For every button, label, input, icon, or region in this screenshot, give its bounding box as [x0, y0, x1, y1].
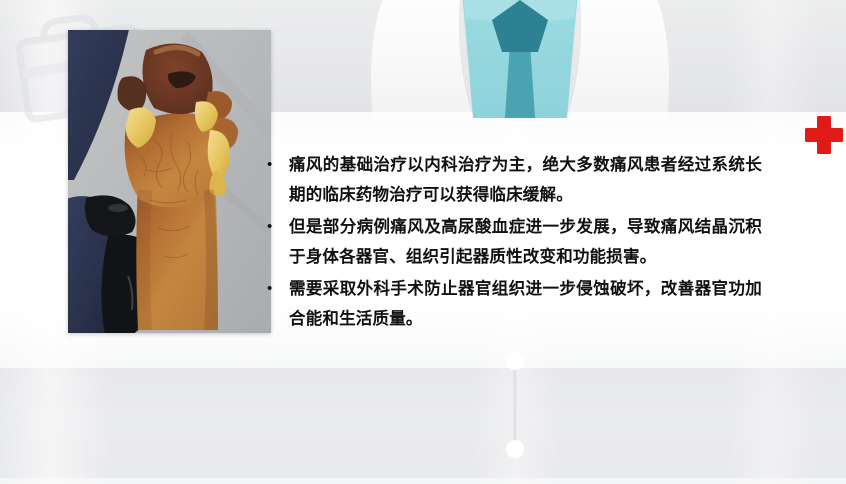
- bullet-text: 需要采取外科手术防止器官组织进一步侵蚀破坏，改善器官功加合能和生活质量。: [289, 274, 762, 334]
- timeline-connector: [504, 350, 526, 460]
- presentation-slide: • 痛风的基础治疗以内科治疗为主，绝大多数痛风患者经过系统长期的临床药物治疗可以…: [0, 0, 846, 484]
- bullet-marker-icon: •: [262, 150, 289, 180]
- red-medical-cross-icon: [803, 114, 845, 156]
- bullet-marker-icon: •: [262, 212, 289, 242]
- list-item: • 需要采取外科手术防止器官组织进一步侵蚀破坏，改善器官功加合能和生活质量。: [262, 274, 762, 334]
- bullet-text: 痛风的基础治疗以内科治疗为主，绝大多数痛风患者经过系统长期的临床药物治疗可以获得…: [289, 150, 762, 210]
- doctor-torso-silhouette-icon: [355, 0, 685, 118]
- bullet-text: 但是部分病例痛风及高尿酸血症进一步发展，导致痛风结晶沉积于身体各器官、组织引起器…: [289, 212, 762, 272]
- slide-bottom-edge: [0, 478, 846, 484]
- slide-background-bottom-band: [0, 368, 846, 484]
- gout-foot-photo-illustration: [68, 30, 271, 333]
- list-item: • 痛风的基础治疗以内科治疗为主，绝大多数痛风患者经过系统长期的临床药物治疗可以…: [262, 150, 762, 210]
- bullet-list: • 痛风的基础治疗以内科治疗为主，绝大多数痛风患者经过系统长期的临床药物治疗可以…: [262, 150, 762, 336]
- bullet-marker-icon: •: [262, 274, 289, 304]
- gout-foot-clinical-photo: [68, 30, 271, 333]
- list-item: • 但是部分病例痛风及高尿酸血症进一步发展，导致痛风结晶沉积于身体各器官、组织引…: [262, 212, 762, 272]
